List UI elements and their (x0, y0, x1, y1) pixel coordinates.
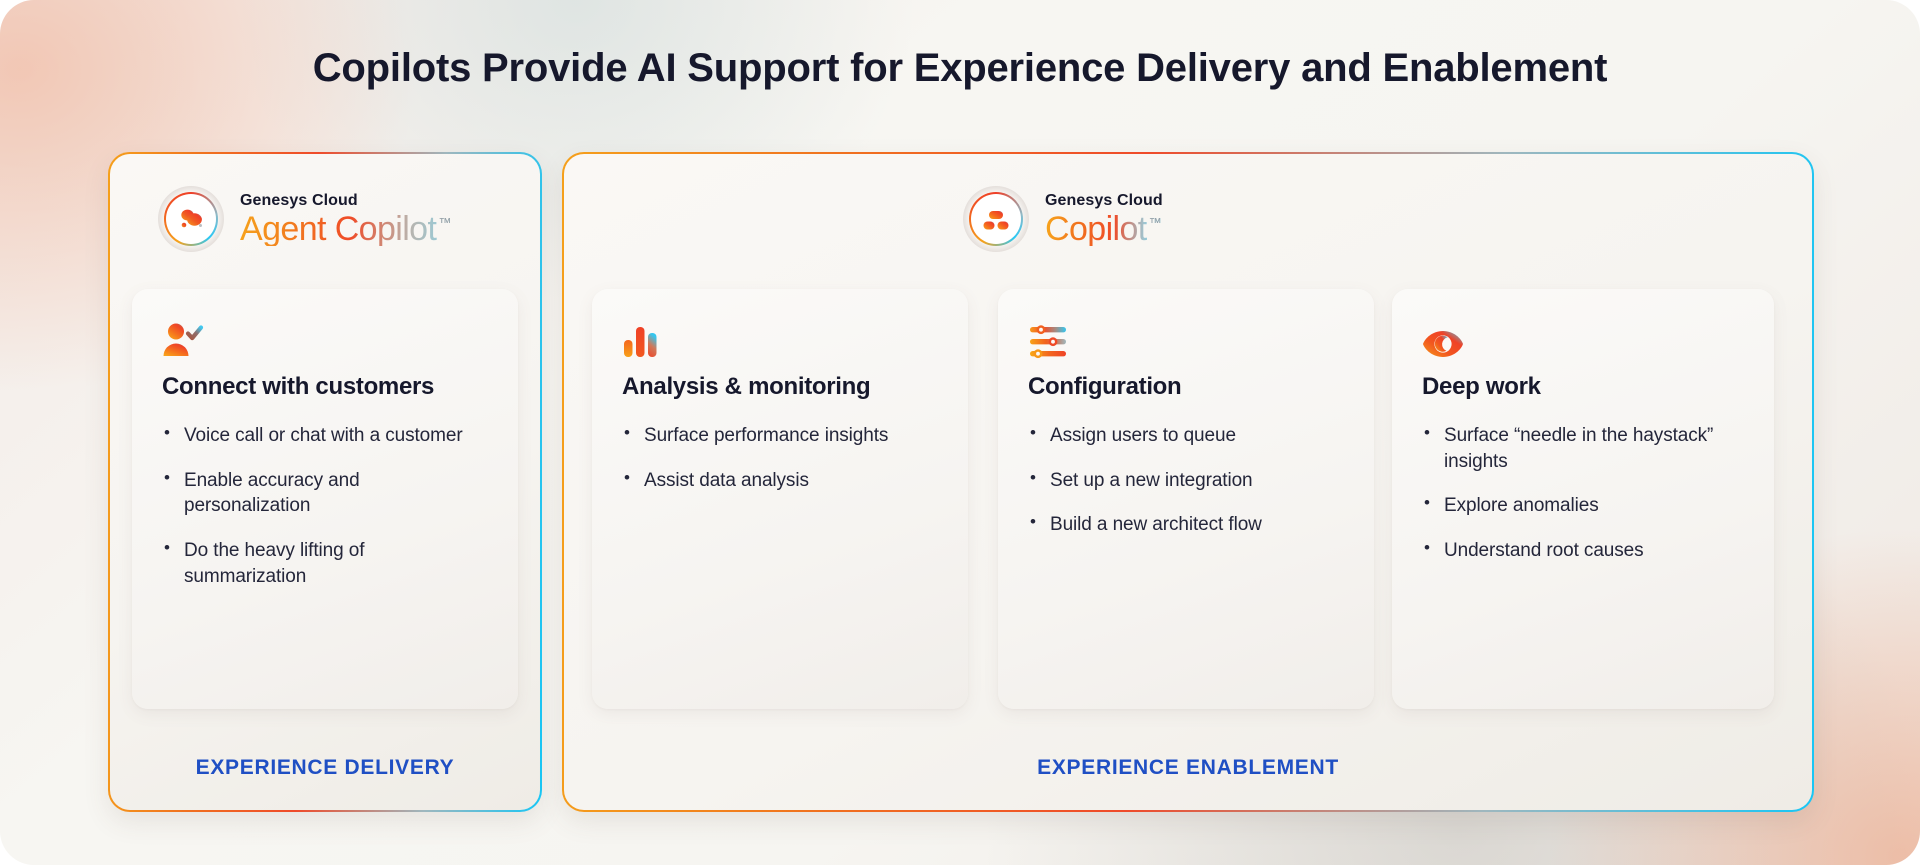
copilot-logo-lockup: Genesys Cloud Copilot™ (963, 186, 1163, 252)
footer-label-experience-delivery: EXPERIENCE DELIVERY (110, 756, 540, 780)
list-item: Understand root causes (1422, 538, 1744, 564)
list-item: Surface “needle in the haystack” insight… (1422, 423, 1744, 474)
list-item: Explore anomalies (1422, 493, 1744, 519)
bullet-list: Assign users to queue Set up a new integ… (1028, 423, 1344, 538)
logo-wordmark: Copilot™ (1045, 212, 1163, 246)
list-item: Do the heavy lifting of summarization (162, 538, 488, 589)
bullet-list: Surface performance insights Assist data… (622, 423, 938, 493)
list-item: Assign users to queue (1028, 423, 1344, 449)
trademark-mark: ™ (1149, 215, 1161, 230)
list-item: Set up a new integration (1028, 468, 1344, 494)
bar-chart-icon (622, 317, 938, 359)
list-item: Assist data analysis (622, 468, 938, 494)
panel-experience-enablement: Genesys Cloud Copilot™ (562, 152, 1814, 812)
bullet-list: Surface “needle in the haystack” insight… (1422, 423, 1744, 564)
list-item: Enable accuracy and personalization (162, 468, 488, 519)
card-deep-work: Deep work Surface “needle in the haystac… (1392, 289, 1774, 709)
card-configuration: Configuration Assign users to queue Set … (998, 289, 1374, 709)
agent-copilot-chat-bubbles-icon (158, 186, 224, 252)
logo-superscript: Genesys Cloud (1045, 193, 1163, 209)
trademark-mark: ™ (438, 215, 450, 230)
person-check-icon (162, 317, 488, 359)
card-title: Analysis & monitoring (622, 373, 938, 401)
page-title: Copilots Provide AI Support for Experien… (0, 46, 1920, 91)
logo-wordmark: Agent Copilot™ (240, 212, 451, 246)
sliders-icon (1028, 317, 1344, 359)
list-item: Voice call or chat with a customer (162, 423, 488, 449)
card-title: Connect with customers (162, 373, 488, 401)
card-title: Deep work (1422, 373, 1744, 401)
eye-icon (1422, 317, 1744, 359)
panel-experience-delivery: Genesys Cloud Agent Copilot™ (108, 152, 542, 812)
list-item: Surface performance insights (622, 423, 938, 449)
logo-superscript: Genesys Cloud (240, 193, 451, 209)
bullet-list: Voice call or chat with a customer Enabl… (162, 423, 488, 589)
card-analysis-and-monitoring: Analysis & monitoring Surface performanc… (592, 289, 968, 709)
copilot-dots-icon (963, 186, 1029, 252)
slide-canvas: Copilots Provide AI Support for Experien… (0, 0, 1920, 865)
list-item: Build a new architect flow (1028, 512, 1344, 538)
footer-label-experience-enablement: EXPERIENCE ENABLEMENT (564, 756, 1812, 780)
card-title: Configuration (1028, 373, 1344, 401)
card-connect-with-customers: Connect with customers Voice call or cha… (132, 289, 518, 709)
agent-copilot-logo-lockup: Genesys Cloud Agent Copilot™ (158, 186, 451, 252)
